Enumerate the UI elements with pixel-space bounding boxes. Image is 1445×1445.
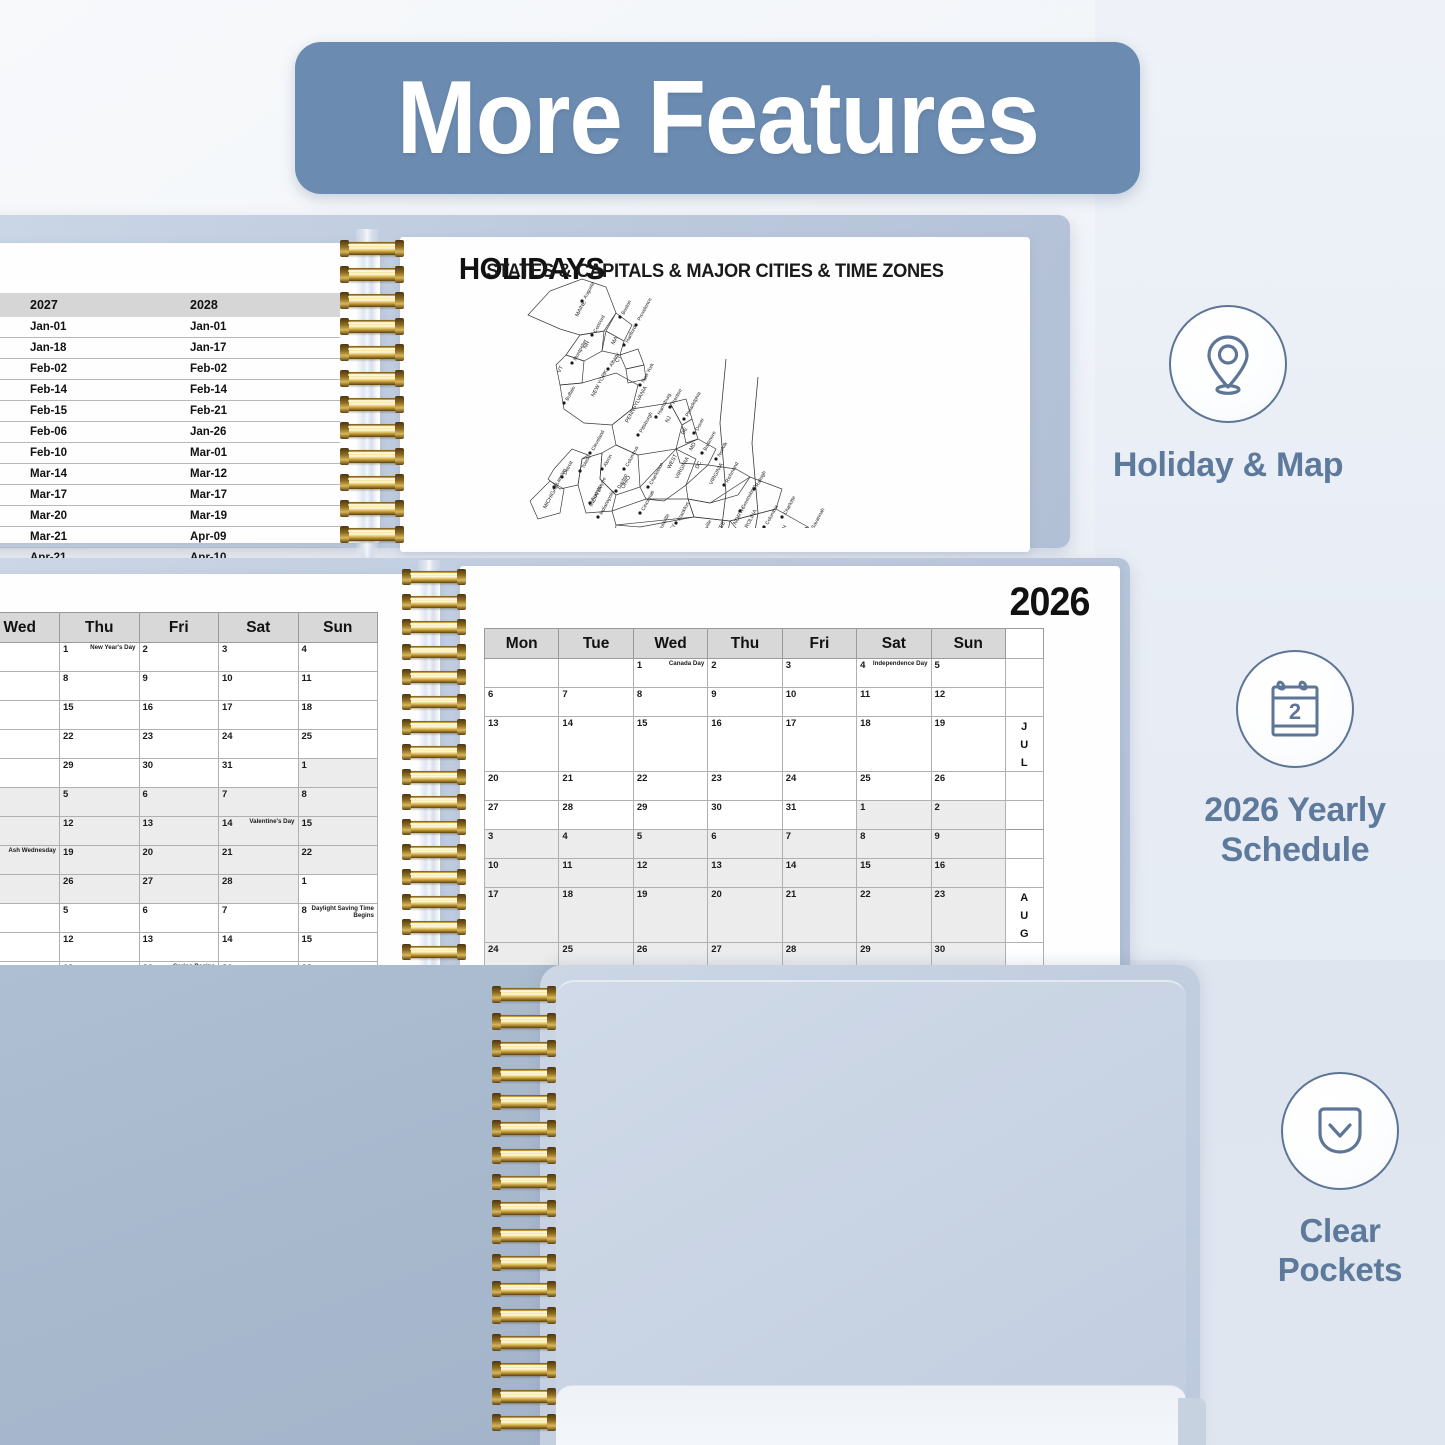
calendar-day-cell[interactable]: 16 xyxy=(708,717,782,772)
calendar-day-cell[interactable]: 3 xyxy=(485,830,559,859)
spiral-coil-ring xyxy=(404,571,464,583)
calendar-day-cell[interactable]: 6 xyxy=(485,688,559,717)
calendar-day-number: 14 xyxy=(222,934,233,945)
calendar-day-cell[interactable]: 5 xyxy=(60,904,140,933)
calendar-day-number: 7 xyxy=(222,789,227,800)
calendar-weekday-header: Wed xyxy=(0,613,60,643)
calendar-day-cell[interactable]: 11 xyxy=(0,817,60,846)
calendar-day-cell[interactable]: 12 xyxy=(60,933,140,962)
spiral-coil-highlight xyxy=(500,1204,548,1206)
calendar-day-cell[interactable]: 12 xyxy=(633,859,707,888)
calendar-day-number: 13 xyxy=(143,818,154,829)
calendar-day-cell[interactable]: 23 xyxy=(708,772,782,801)
calendar-day-number: 7 xyxy=(562,689,567,700)
spiral-coil-highlight xyxy=(410,748,458,750)
calendar-right-header-row: MonTueWedThuFriSatSun xyxy=(485,629,1044,659)
calendar-day-cell[interactable]: 11 xyxy=(559,859,633,888)
calendar-day-cell[interactable]: 1 xyxy=(298,875,378,904)
calendar-day-cell[interactable]: 7 xyxy=(0,672,60,701)
spiral-coil-ring xyxy=(494,1309,554,1322)
calendar-day-cell[interactable]: 31 xyxy=(219,759,299,788)
calendar-day-cell[interactable]: 10 xyxy=(219,672,299,701)
spiral-coil-ring xyxy=(404,621,464,633)
calendar-day-number: 25 xyxy=(302,731,313,742)
spiral-coil-ring xyxy=(342,372,402,384)
spiral-coil-highlight xyxy=(348,452,396,454)
calendar-day-cell[interactable]: 19 xyxy=(633,888,707,943)
holidays-cell: Jan-18 xyxy=(20,338,180,359)
calendar-day-cell[interactable]: 16 xyxy=(931,859,1005,888)
calendar-day-cell[interactable]: 20 xyxy=(708,888,782,943)
calendar-day-cell[interactable]: 28 xyxy=(219,875,299,904)
holidays-cell: Mar-14 xyxy=(20,464,180,485)
calendar-day-number: 2 xyxy=(711,660,716,671)
calendar-day-cell[interactable]: 26 xyxy=(60,875,140,904)
calendar-day-number: 1 xyxy=(302,760,307,771)
calendar-day-cell[interactable]: 20 xyxy=(139,846,219,875)
calendar-week-row: 1New Year's Day234 xyxy=(0,643,378,672)
holidays-cell: Jan-01 xyxy=(180,317,340,338)
spiral-coil-ring xyxy=(494,1283,554,1296)
calendar-event-label: Daylight Saving Time Begins xyxy=(308,905,374,919)
calendar-day-cell[interactable]: 11 xyxy=(298,672,378,701)
clear-pocket-flap-notch xyxy=(1178,1398,1206,1445)
calendar-day-cell[interactable]: 3 xyxy=(219,643,299,672)
calendar-day-cell[interactable]: 18 xyxy=(857,717,931,772)
calendar-day-number: 4 xyxy=(562,831,567,842)
spiral-coil-highlight xyxy=(410,773,458,775)
calendar-day-cell[interactable]: 23 xyxy=(931,888,1005,943)
spiral-coil-highlight xyxy=(348,400,396,402)
calendar-day-cell[interactable]: 1Canada Day xyxy=(633,659,707,688)
spiral-coil-highlight xyxy=(410,923,458,925)
calendar-month-tab[interactable] xyxy=(1005,688,1043,717)
table-row: 17Feb-06Jan-26 xyxy=(0,422,340,443)
calendar-day-cell[interactable]: 6 xyxy=(708,830,782,859)
calendar-day-cell[interactable]: 1 xyxy=(857,801,931,830)
spiral-coil-highlight xyxy=(410,673,458,675)
calendar-day-cell[interactable]: 6 xyxy=(139,788,219,817)
calendar-day-cell[interactable] xyxy=(485,659,559,688)
calendar-day-number: 5 xyxy=(63,905,68,916)
calendar-day-cell[interactable]: 21 xyxy=(219,846,299,875)
map-pin-icon xyxy=(1169,305,1287,423)
calendar-month-tab[interactable] xyxy=(1005,830,1043,859)
calendar-weekday-header: Wed xyxy=(633,629,707,659)
spiral-coil-highlight xyxy=(500,1178,548,1180)
calendar-day-cell[interactable]: 17 xyxy=(782,717,856,772)
holidays-cell: Feb-15 xyxy=(20,401,180,422)
calendar-week-row: 2122232425 xyxy=(0,730,378,759)
calendar-week-row: 1112131415 xyxy=(0,933,378,962)
table-row: 29Mar-21Apr-09 xyxy=(0,527,340,548)
spiral-coil-highlight xyxy=(410,723,458,725)
calendar-day-cell[interactable]: 18 xyxy=(559,888,633,943)
pocket-icon xyxy=(1281,1072,1399,1190)
holidays-cell: 08 xyxy=(0,464,20,485)
calendar-day-number: 3 xyxy=(786,660,791,671)
calendar-day-number: 20 xyxy=(711,889,722,900)
spiral-coil-highlight xyxy=(500,1338,548,1340)
calendar-month-tab[interactable]: AUG xyxy=(1005,888,1043,943)
calendar-day-cell[interactable]: 4 xyxy=(0,788,60,817)
calendar-day-cell[interactable] xyxy=(559,659,633,688)
svg-text:Raleigh: Raleigh xyxy=(754,470,767,488)
calendar-day-number: 31 xyxy=(786,802,797,813)
spiral-coil-highlight xyxy=(500,1418,548,1420)
spiral-coil-highlight xyxy=(348,244,396,246)
svg-text:Savannah: Savannah xyxy=(810,507,826,528)
calendar-day-number: 12 xyxy=(63,818,74,829)
holidays-cell: Jan-26 xyxy=(180,422,340,443)
calendar-day-number: 15 xyxy=(637,718,648,729)
calendar-day-cell[interactable]: 10 xyxy=(782,688,856,717)
calendar-day-number: 16 xyxy=(935,860,946,871)
calendar-day-cell[interactable]: 11 xyxy=(0,933,60,962)
svg-text:DC: DC xyxy=(694,460,703,470)
calendar-day-number: 18 xyxy=(562,889,573,900)
holidays-cell: Feb-02 xyxy=(180,359,340,380)
spiral-coil-ring xyxy=(404,646,464,658)
calendar-day-cell[interactable]: 18Ash Wednesday xyxy=(0,846,60,875)
calendar-day-number: 8 xyxy=(860,831,865,842)
calendar-day-number: 14 xyxy=(562,718,573,729)
calendar-day-cell[interactable]: 2 xyxy=(708,659,782,688)
calendar-day-cell[interactable]: 5 xyxy=(931,659,1005,688)
calendar-day-cell[interactable]: 22 xyxy=(633,772,707,801)
calendar-day-cell[interactable]: 27 xyxy=(139,875,219,904)
calendar-day-cell[interactable]: 21 xyxy=(0,730,60,759)
calendar-day-number: 15 xyxy=(860,860,871,871)
calendar-day-cell[interactable]: 2 xyxy=(139,643,219,672)
calendar-weekday-header: Tue xyxy=(559,629,633,659)
calendar-day-cell[interactable]: 28 xyxy=(559,801,633,830)
calendar-year-label: 2026 xyxy=(1010,580,1090,625)
calendar-day-cell[interactable]: 12 xyxy=(60,817,140,846)
calendar-day-number: 17 xyxy=(488,889,499,900)
calendar-day-cell[interactable]: 5 xyxy=(60,788,140,817)
calendar-day-cell[interactable]: 8Daylight Saving Time Begins xyxy=(298,904,378,933)
calendar-month-tab[interactable] xyxy=(1005,801,1043,830)
feature-label-3-line2: Pockets xyxy=(1278,1251,1402,1288)
calendar-day-cell[interactable]: 25 xyxy=(857,772,931,801)
calendar-day-cell[interactable]: 15 xyxy=(633,717,707,772)
calendar-day-cell[interactable]: 3 xyxy=(782,659,856,688)
calendar-day-cell[interactable]: 15 xyxy=(298,933,378,962)
calendar-day-cell[interactable]: 1 xyxy=(298,759,378,788)
calendar-day-cell[interactable]: 4 xyxy=(298,643,378,672)
svg-text:Akron: Akron xyxy=(602,453,614,468)
calendar-day-cell[interactable]: 7 xyxy=(559,688,633,717)
calendar-day-number: 29 xyxy=(860,944,871,955)
calendar-day-cell[interactable]: 18 xyxy=(298,701,378,730)
calendar-day-number: 6 xyxy=(711,831,716,842)
calendar-weekday-header: Sat xyxy=(857,629,931,659)
calendar-day-cell[interactable]: 20 xyxy=(485,772,559,801)
calendar-day-number: 6 xyxy=(143,789,148,800)
calendar-day-number: 22 xyxy=(860,889,871,900)
spiral-coil-ring xyxy=(342,424,402,436)
calendar-day-number: 29 xyxy=(637,802,648,813)
calendar-day-number: 9 xyxy=(935,831,940,842)
svg-text:Pittsburgh: Pittsburgh xyxy=(638,411,654,434)
calendar-week-row: 3456789 xyxy=(485,830,1044,859)
spiral-coil-ring xyxy=(494,1202,554,1215)
calendar-event-label: Canada Day xyxy=(669,660,704,667)
calendar-day-number: 28 xyxy=(222,876,233,887)
spiral-coil-highlight xyxy=(500,1311,548,1313)
spiral-coil-ring xyxy=(494,1363,554,1376)
calendar-day-cell[interactable]: 4 xyxy=(0,904,60,933)
calendar-day-number: 21 xyxy=(786,889,797,900)
svg-text:NORTH: NORTH xyxy=(732,506,746,526)
calendar-day-cell[interactable]: 25 xyxy=(298,730,378,759)
calendar-month-tab-label: AUG xyxy=(1020,892,1029,940)
calendar-week-row: 45678 xyxy=(0,788,378,817)
calendar-day-cell[interactable]: 28 xyxy=(0,759,60,788)
spiral-coil-ring xyxy=(342,450,402,462)
spiral-coil-ring xyxy=(494,1390,554,1403)
calendar-day-cell[interactable]: 1New Year's Day xyxy=(60,643,140,672)
spiral-coil-ring xyxy=(342,294,402,306)
calendar-day-number: 23 xyxy=(711,773,722,784)
svg-text:Toledo: Toledo xyxy=(580,454,592,470)
feature-holiday-map: Holiday & Map xyxy=(1078,305,1378,485)
pocket-glyph xyxy=(1308,1099,1372,1163)
feature-yearly-schedule: 2 2026 Yearly Schedule xyxy=(1145,650,1445,870)
spiral-coil-ring xyxy=(404,946,464,958)
calendar-weekday-header: Sun xyxy=(298,613,378,643)
spiral-binding-3 xyxy=(494,985,554,1440)
calendar-day-number: 6 xyxy=(143,905,148,916)
calendar-day-cell[interactable]: 13 xyxy=(708,859,782,888)
spiral-coil-ring xyxy=(404,721,464,733)
us-map-graphic: Augusta Boston Providence Hartford Conco… xyxy=(520,273,960,528)
calendar-day-cell[interactable] xyxy=(0,643,60,672)
calendar-day-cell[interactable]: 8 xyxy=(857,830,931,859)
svg-text:DE: DE xyxy=(680,426,689,436)
spiral-coil-ring xyxy=(404,921,464,933)
calendar-week-row: 282930311 xyxy=(0,759,378,788)
calendar-day-cell[interactable]: 30 xyxy=(708,801,782,830)
calendar-day-number: 1 xyxy=(63,644,68,655)
svg-text:MICHIGAN: MICHIGAN xyxy=(542,483,560,510)
calendar-day-cell[interactable]: 15 xyxy=(857,859,931,888)
calendar-day-cell[interactable]: 5 xyxy=(633,830,707,859)
spiral-coil-ring xyxy=(404,596,464,608)
calendar-day-cell[interactable]: 21 xyxy=(782,888,856,943)
spiral-coil-ring xyxy=(342,242,402,254)
holidays-cell: Mar-21 xyxy=(20,527,180,548)
calendar-day-number: 2 xyxy=(935,802,940,813)
spiral-coil-highlight xyxy=(348,478,396,480)
calendar-day-number: 27 xyxy=(143,876,154,887)
holidays-cell: 17 xyxy=(0,485,20,506)
spiral-coil-highlight xyxy=(500,1151,548,1153)
holidays-cell: 01 xyxy=(0,317,20,338)
calendar-day-number: 23 xyxy=(935,889,946,900)
calendar-day-cell[interactable]: 14Valentine's Day xyxy=(219,817,299,846)
holidays-cell: Feb-21 xyxy=(180,401,340,422)
calendar-day-cell[interactable]: 17 xyxy=(219,701,299,730)
calendar-day-number: 7 xyxy=(786,831,791,842)
calendar-day-cell[interactable]: 29 xyxy=(633,801,707,830)
calendar-weekday-header: Fri xyxy=(782,629,856,659)
calendar-week-row: 1Canada Day234Independence Day5 xyxy=(485,659,1044,688)
calendar-day-number: 28 xyxy=(786,944,797,955)
spiral-coil-highlight xyxy=(348,322,396,324)
calendar-day-cell[interactable]: 4Independence Day xyxy=(857,659,931,688)
calendar-day-cell[interactable]: 13 xyxy=(485,717,559,772)
spiral-coil-highlight xyxy=(410,823,458,825)
table-row: 01Jan-01Jan-01 xyxy=(0,317,340,338)
calendar-week-row: ese New Year18Ash Wednesday19202122 xyxy=(0,846,378,875)
calendar-day-cell[interactable]: 14 xyxy=(0,701,60,730)
calendar-day-number: 21 xyxy=(562,773,573,784)
svg-text:Boston: Boston xyxy=(620,299,633,316)
feature-label-1: Holiday & Map xyxy=(1078,445,1378,485)
calendar-day-cell[interactable]: 10 xyxy=(485,859,559,888)
calendar-weekday-header: Fri xyxy=(139,613,219,643)
table-row: 14Feb-14Feb-14 xyxy=(0,380,340,401)
holidays-cell: Feb-06 xyxy=(20,422,180,443)
calendar-day-cell[interactable]: 29 xyxy=(60,759,140,788)
calendar-day-cell[interactable]: 26 xyxy=(931,772,1005,801)
spiral-coil-highlight xyxy=(348,296,396,298)
calendar-day-number: 23 xyxy=(143,731,154,742)
calendar-day-cell[interactable]: 15 xyxy=(298,817,378,846)
calendar-icon: 2 xyxy=(1236,650,1354,768)
calendar-day-cell[interactable]: 6 xyxy=(139,904,219,933)
spiral-coil-highlight xyxy=(500,1258,548,1260)
spiral-coil-highlight xyxy=(410,898,458,900)
spiral-coil-highlight xyxy=(410,798,458,800)
calendar-day-cell[interactable]: 8 xyxy=(298,788,378,817)
calendar-week-row: 252627281 xyxy=(0,875,378,904)
calendar-left-header-row: ueWedThuFriSatSun xyxy=(0,613,378,643)
calendar-month-tab[interactable]: JUL xyxy=(1005,717,1043,772)
calendar-month-tab[interactable] xyxy=(1005,772,1043,801)
calendar-day-cell[interactable]: 14 xyxy=(782,859,856,888)
holidays-cell: 9 xyxy=(0,338,20,359)
spiral-coil-ring xyxy=(404,821,464,833)
table-row: 18Feb-10Mar-01 xyxy=(0,443,340,464)
calendar-day-cell[interactable]: 13 xyxy=(139,817,219,846)
holidays-cell: Feb-14 xyxy=(20,380,180,401)
calendar-week-row: 1415161718 xyxy=(0,701,378,730)
calendar-day-cell[interactable]: 30 xyxy=(139,759,219,788)
spiral-coil-highlight xyxy=(500,1124,548,1126)
svg-text:Philadelphia: Philadelphia xyxy=(684,391,702,418)
holidays-cell: Feb-14 xyxy=(180,380,340,401)
calendar-day-cell[interactable]: 8 xyxy=(60,672,140,701)
holidays-header-row: 6 2027 2028 xyxy=(0,293,340,317)
table-row: 20Mar-20Mar-19 xyxy=(0,506,340,527)
calendar-day-number: 13 xyxy=(711,860,722,871)
calendar-day-number: 13 xyxy=(143,934,154,945)
calendar-day-cell[interactable]: 7 xyxy=(219,904,299,933)
table-row: 17Mar-17Mar-17 xyxy=(0,485,340,506)
table-row: 16Feb-15Feb-21 xyxy=(0,401,340,422)
calendar-day-cell[interactable]: 14 xyxy=(219,933,299,962)
calendar-weekday-header: Mon xyxy=(485,629,559,659)
calendar-day-cell[interactable]: 22 xyxy=(857,888,931,943)
svg-text:Dover: Dover xyxy=(694,417,706,432)
calendar-day-cell[interactable]: 21 xyxy=(559,772,633,801)
calendar-day-number: 27 xyxy=(488,802,499,813)
calendar-day-number: 3 xyxy=(222,644,227,655)
clear-pocket-sheet xyxy=(556,980,1186,1425)
calendar-day-number: 4 xyxy=(302,644,307,655)
spiral-coil-highlight xyxy=(500,990,548,992)
calendar-weekday-header: Sat xyxy=(219,613,299,643)
calendar-day-number: 10 xyxy=(786,689,797,700)
calendar-day-number: 22 xyxy=(637,773,648,784)
calendar-day-cell[interactable]: 17 xyxy=(485,888,559,943)
calendar-day-cell[interactable]: 15 xyxy=(60,701,140,730)
table-row: 08Mar-14Mar-12 xyxy=(0,464,340,485)
calendar-day-cell[interactable]: 9 xyxy=(708,688,782,717)
spiral-coil-highlight xyxy=(410,648,458,650)
calendar-week-row: 11121314Valentine's Day15 xyxy=(0,817,378,846)
calendar-day-number: 8 xyxy=(63,673,68,684)
calendar-day-cell[interactable]: 2 xyxy=(931,801,1005,830)
calendar-day-cell[interactable]: 22 xyxy=(298,846,378,875)
calendar-day-cell[interactable]: 31 xyxy=(782,801,856,830)
calendar-day-cell[interactable]: 19 xyxy=(931,717,1005,772)
calendar-day-cell[interactable]: 13 xyxy=(139,933,219,962)
calendar-day-number: 31 xyxy=(222,760,233,771)
calendar-day-cell[interactable]: 12 xyxy=(931,688,1005,717)
calendar-day-cell[interactable]: 7 xyxy=(219,788,299,817)
calendar-day-cell[interactable]: 7 xyxy=(782,830,856,859)
calendar-day-cell[interactable]: 24 xyxy=(782,772,856,801)
calendar-week-row: 10111213141516 xyxy=(485,859,1044,888)
calendar-day-number: 11 xyxy=(860,689,870,700)
calendar-day-cell[interactable]: 8 xyxy=(633,688,707,717)
calendar-day-cell[interactable]: 9 xyxy=(139,672,219,701)
spiral-coil-ring xyxy=(494,1336,554,1349)
calendar-day-cell[interactable]: 23 xyxy=(139,730,219,759)
calendar-month-tab[interactable] xyxy=(1005,659,1043,688)
spiral-coil-ring xyxy=(342,320,402,332)
calendar-day-cell[interactable]: 25 xyxy=(0,875,60,904)
calendar-day-cell[interactable]: 14 xyxy=(559,717,633,772)
holidays-cell: 16 xyxy=(0,401,20,422)
calendar-month-tab[interactable] xyxy=(1005,859,1043,888)
spiral-coil-ring xyxy=(342,528,402,540)
calendar-day-cell[interactable]: 9 xyxy=(931,830,1005,859)
spiral-coil-highlight xyxy=(348,504,396,506)
calendar-week-row: 6789101112 xyxy=(485,688,1044,717)
calendar-day-number: 22 xyxy=(302,847,313,858)
svg-text:Trenton: Trenton xyxy=(670,388,683,406)
calendar-day-number: 18 xyxy=(860,718,871,729)
calendar-day-number: 29 xyxy=(63,760,74,771)
calendar-day-number: 12 xyxy=(63,934,74,945)
calendar-day-number: 10 xyxy=(222,673,233,684)
calendar-day-cell[interactable]: 22 xyxy=(60,730,140,759)
calendar-day-cell[interactable]: 19 xyxy=(60,846,140,875)
holidays-cell: 18 xyxy=(0,443,20,464)
calendar-day-cell[interactable]: 24 xyxy=(219,730,299,759)
calendar-day-cell[interactable]: 27 xyxy=(485,801,559,830)
calendar-day-cell[interactable]: 16 xyxy=(139,701,219,730)
calendar-day-cell[interactable]: 4 xyxy=(559,830,633,859)
calendar-day-number: 1 xyxy=(302,876,307,887)
spiral-coil-ring xyxy=(404,696,464,708)
calendar-day-cell[interactable]: 11 xyxy=(857,688,931,717)
